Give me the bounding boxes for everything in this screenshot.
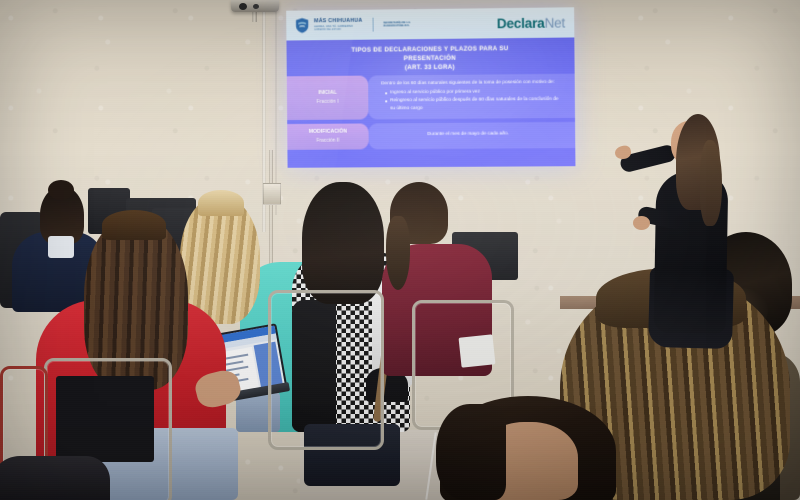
row-label-modificacion: MODIFICACIÓN Fracción II [287,123,369,149]
row-inicial-bullets: Ingreso al servicio público por primera … [377,88,559,114]
row-label-inicial: INICIAL Fracción I [287,76,369,120]
shield-icon [295,17,309,33]
slide-row-modificacion: MODIFICACIÓN Fracción II Durante el mes … [287,122,575,150]
projector-lens-secondary-icon [253,4,259,9]
row-content-modificacion: Durante el mes de mayo de cada año. [368,122,575,149]
wall-conduit [269,150,273,270]
row-inicial-bullet-2: Reingreso al servicio público después de… [385,96,559,113]
slide-body: TIPOS DE DECLARACIONES Y PLAZOS PARA SU … [286,37,575,167]
chair-pad-left [56,376,154,462]
row-label-modificacion-title: MODIFICACIÓN [309,128,347,137]
attendee-burgundy-sweater-ponytail [386,216,410,290]
wall-outlet-box [263,183,281,205]
row-label-inicial-title: INICIAL [318,89,337,98]
logo-divider [372,18,373,32]
brand-net: Net [544,15,565,30]
attendee-houndstooth-hair [302,182,384,304]
slide-title: TIPOS DE DECLARACIONES Y PLAZOS PARA SU … [286,37,574,73]
row-label-inicial-fraction: Fracción I [317,98,339,107]
attendee-blue-blazer-collar [48,236,74,258]
row-inicial-lead: Dentro de los 60 días naturales siguient… [377,79,559,89]
ceiling-projector [231,0,279,12]
slide-header: MÁS CHIHUAHUA AHORA, VAS TÚ. GOBIERNO GO… [286,7,574,40]
row-modificacion-lead: Durante el mes de mayo de cada año. [427,131,509,139]
projected-slide: MÁS CHIHUAHUA AHORA, VAS TÚ. GOBIERNO GO… [286,7,575,168]
secretaria-block: SECRETARÍA DE LA FUNCIÓN PÚBLICA [383,21,410,28]
chair-frame-center-left [268,290,384,450]
attendee-blue-blazer-bun [48,180,74,200]
projector-lens-icon [239,3,247,10]
logo-sub-text-2: GOBIERNO DEL ESTADO [314,29,362,32]
attendee-red-sweater-hair-top [102,210,166,240]
attendee-teal-blouse-hair-top [198,190,244,216]
presenter-lower-hand [633,216,650,230]
attendee-foreground-dark-hair-left [436,404,506,500]
row-content-inicial: Dentro de los 60 días naturales siguient… [368,74,575,119]
photo-scene: MÁS CHIHUAHUA AHORA, VAS TÚ. GOBIERNO GO… [0,0,800,500]
presenter-hair-strand [700,140,722,226]
declaranet-brand: DeclaraNet [497,15,565,31]
brand-declara: Declara [497,15,545,31]
slide-row-inicial: INICIAL Fracción I Dentro de los 60 días… [287,74,575,120]
secretaria-line-2: FUNCIÓN PÚBLICA [383,24,410,28]
attendee-bottom-left-shoulder-body [0,456,110,500]
slide-rows: INICIAL Fracción I Dentro de los 60 días… [287,74,576,154]
row-label-modificacion-fraction: Fracción II [316,136,339,145]
slide-title-line-3: (ART. 33 LGRA) [312,63,548,74]
logo-text-block: MÁS CHIHUAHUA AHORA, VAS TÚ. GOBIERNO GO… [314,19,362,32]
government-logo: MÁS CHIHUAHUA AHORA, VAS TÚ. GOBIERNO GO… [295,16,410,33]
